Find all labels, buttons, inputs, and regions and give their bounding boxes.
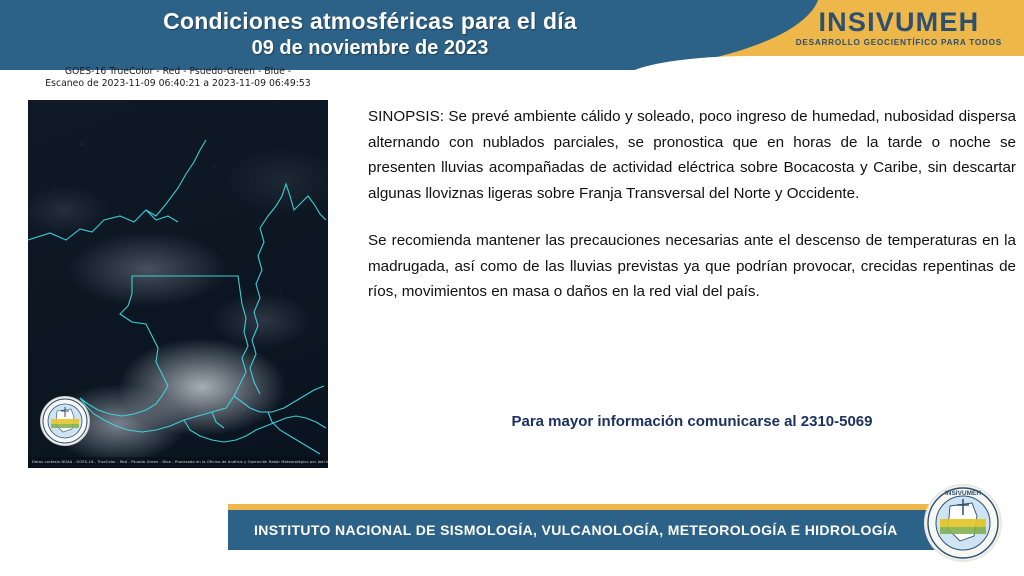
page-footer: GOBIERNO de GUATEMALA DR. ALEJANDRO GIAM…	[0, 490, 1024, 576]
institute-full-name: INSTITUTO NACIONAL DE SISMOLOGÍA, VULCAN…	[228, 522, 898, 538]
synopsis-paragraph: SINOPSIS: Se prevé ambiente cálido y sol…	[368, 104, 1016, 206]
footer-institute-bar: INSTITUTO NACIONAL DE SISMOLOGÍA, VULCAN…	[228, 510, 944, 550]
satellite-seal-overlay	[40, 396, 90, 446]
insivumeh-logo-tagline: DESARROLLO GEOCIENTÍFICO PARA TODOS	[796, 39, 1002, 47]
insivumeh-logo-name: INSIVUMEH	[796, 9, 1002, 36]
insivumeh-seal-icon: INSIVUMEH	[926, 486, 1000, 560]
satellite-credit-line: Datos cortesía NOAA - GOES-16 - TrueColo…	[28, 457, 328, 468]
insivumeh-logo: INSIVUMEH DESARROLLO GEOCIENTÍFICO PARA …	[796, 9, 1002, 47]
header-title: Condiciones atmosféricas para el día 09 …	[60, 7, 680, 61]
contact-info: Para mayor información comunicarse al 23…	[368, 413, 1016, 430]
weather-bulletin-page: Condiciones atmosféricas para el día 09 …	[0, 0, 1024, 576]
footer-insivumeh-seal: INSIVUMEH	[924, 484, 1002, 562]
header-title-date: 09 de noviembre de 2023	[60, 35, 680, 61]
recommendation-paragraph: Se recomienda mantener las precauciones …	[368, 228, 1016, 305]
satellite-caption-line2: Escaneo de 2023-11-09 06:40:21 a 2023-11…	[28, 78, 328, 90]
satellite-caption: GOES-16 TrueColor - Red - Psuedo-Green -…	[28, 66, 328, 90]
svg-text:INSIVUMEH: INSIVUMEH	[945, 490, 981, 497]
satellite-caption-line1: GOES-16 TrueColor - Red - Psuedo-Green -…	[28, 66, 328, 78]
insivumeh-seal-icon	[41, 397, 89, 445]
header-title-line1: Condiciones atmosféricas para el día	[60, 7, 680, 35]
page-header: Condiciones atmosféricas para el día 09 …	[0, 0, 1024, 70]
satellite-image: Datos cortesía NOAA - GOES-16 - TrueColo…	[28, 100, 328, 468]
synopsis-content: SINOPSIS: Se prevé ambiente cálido y sol…	[368, 104, 1016, 305]
